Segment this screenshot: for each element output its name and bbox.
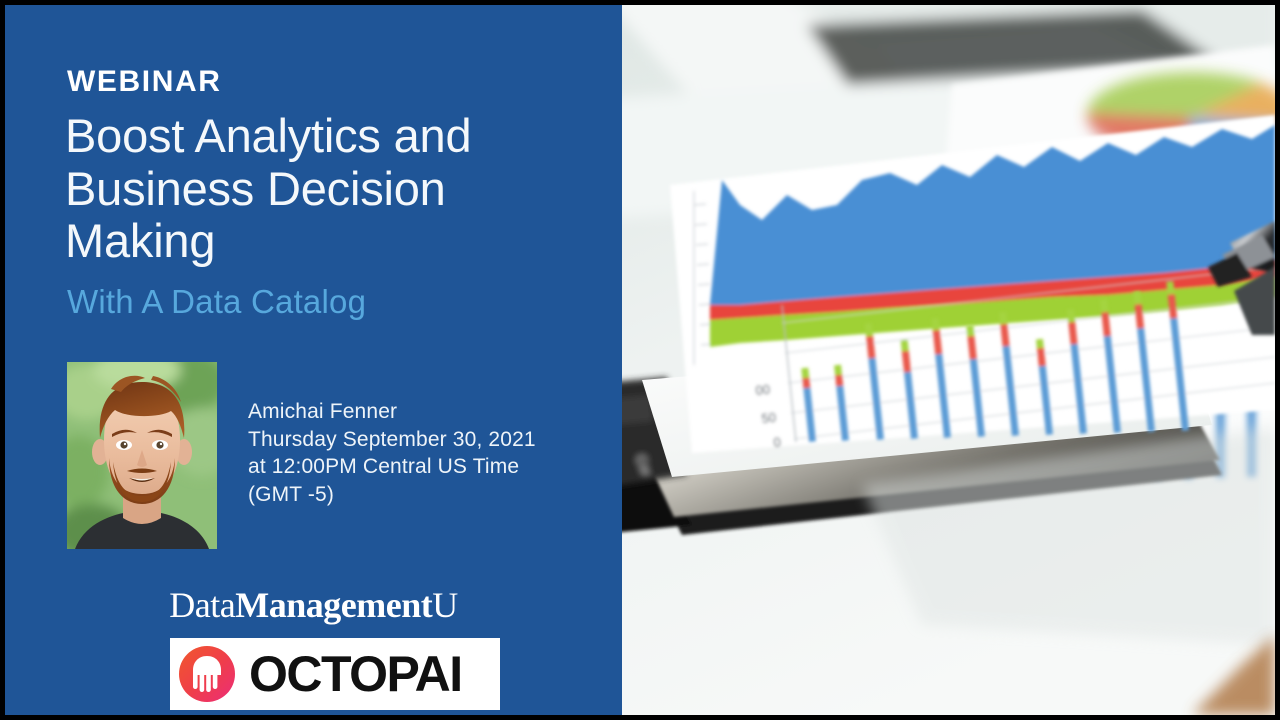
speaker-block: Amichai Fenner Thursday September 30, 20… [67, 362, 612, 552]
webinar-kicker: WEBINAR [67, 67, 222, 97]
dmu-logo-part1: Data [169, 585, 235, 625]
bar-chart-ytick-100: 00 [755, 382, 771, 398]
octopai-logo: OCTOPAI [170, 638, 500, 710]
speaker-details: Amichai Fenner Thursday September 30, 20… [248, 398, 536, 509]
bar-chart-ytick-50: 50 [761, 410, 777, 426]
octopus-icon [179, 646, 235, 702]
datamanagementu-logo: DataManagementU [5, 587, 622, 623]
webinar-hero-photo: Cor [622, 5, 1275, 715]
webinar-info-panel: WEBINAR Boost Analytics and Business Dec… [5, 5, 622, 715]
octopai-wordmark: OCTOPAI [249, 649, 462, 699]
dmu-logo-part3: U [432, 585, 458, 625]
slide-frame: Cor [5, 5, 1275, 715]
dmu-logo-part2: Management [235, 585, 432, 625]
avatar [67, 362, 217, 549]
page-subtitle: With A Data Catalog [67, 284, 366, 320]
slide-canvas: Cor [0, 0, 1280, 720]
page-title: Boost Analytics and Business Decision Ma… [65, 110, 605, 268]
